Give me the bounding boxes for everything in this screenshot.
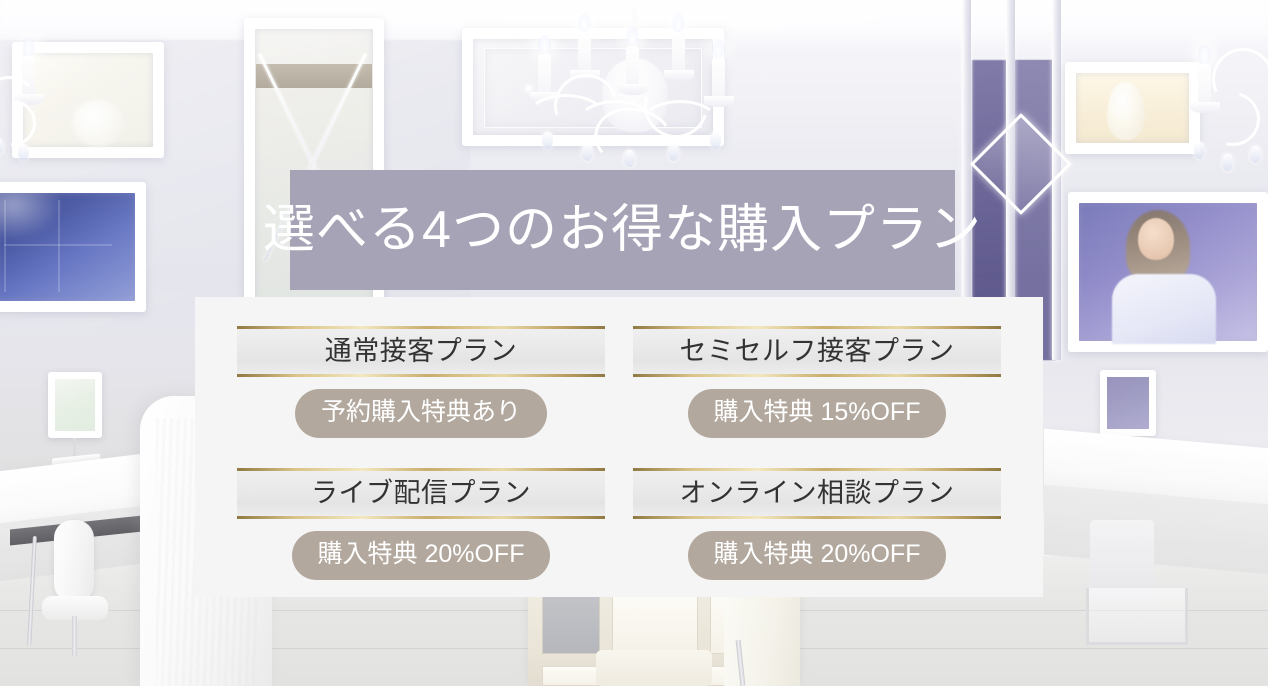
plan-benefit-row: 購入特典 20%OFF <box>237 531 605 580</box>
plan-card-online-consult[interactable]: オンライン相談プラン 購入特典 20%OFF <box>633 468 1001 580</box>
plan-header: ライブ配信プラン <box>237 468 605 519</box>
sconce-crystal <box>1250 146 1261 163</box>
plan-benefit-row: 予約購入特典あり <box>237 389 605 438</box>
sconce-crystal <box>18 144 29 161</box>
person-body <box>1112 274 1216 344</box>
chair-back <box>54 520 94 602</box>
plan-card-livestream[interactable]: ライブ配信プラン 購入特典 20%OFF <box>237 468 605 580</box>
tabletop-mirror-right <box>1100 370 1156 436</box>
chandelier-flame <box>672 12 685 32</box>
screen-divider <box>4 244 112 246</box>
laundry-rack <box>1086 588 1188 645</box>
person-head <box>1138 218 1174 260</box>
screenshot-root: 選べる4つのお得な購入プラン 通常接客プラン 予約購入特典あり セミセルフ接客プ… <box>0 0 1268 686</box>
chandelier-crystal <box>542 132 553 149</box>
salon-chair-left <box>40 520 112 630</box>
plan-benefit-badge: 購入特典 15%OFF <box>688 389 947 438</box>
shelf-cell <box>612 594 698 654</box>
chandelier-cup <box>704 96 734 107</box>
plan-benefit-badge: 予約購入特典あり <box>295 389 547 438</box>
plan-benefit-row: 購入特典 15%OFF <box>633 389 1001 438</box>
plan-grid: 通常接客プラン 予約購入特典あり セミセルフ接客プラン 購入特典 15%OFF … <box>237 326 1001 580</box>
tabletop-mirror-left <box>48 372 102 438</box>
chandelier-crystal <box>582 144 593 161</box>
plan-title: ライブ配信プラン <box>311 480 531 507</box>
plan-panel: 通常接客プラン 予約購入特典あり セミセルフ接客プラン 購入特典 15%OFF … <box>195 297 1043 597</box>
sconce-flame <box>1198 44 1211 64</box>
chandelier-crystal <box>668 144 679 161</box>
chair-stem <box>72 616 77 656</box>
chandelier-crystal <box>624 150 635 167</box>
page-title: 選べる4つのお得な購入プラン <box>263 204 982 256</box>
screen-glare <box>0 190 62 240</box>
vase <box>1107 82 1145 140</box>
chandelier-cup <box>618 84 648 95</box>
plan-title: 通常接客プラン <box>325 338 518 365</box>
plan-header: オンライン相談プラン <box>633 468 1001 519</box>
chandelier-candle <box>578 32 591 74</box>
plan-card-semiself[interactable]: セミセルフ接客プラン 購入特典 15%OFF <box>633 326 1001 438</box>
sconce-flame <box>22 36 35 56</box>
plan-benefit-badge: 購入特典 20%OFF <box>292 531 551 580</box>
chandelier-flame <box>626 26 639 46</box>
plan-header: セミセルフ接客プラン <box>633 326 1001 377</box>
display-monitor-left <box>0 182 146 312</box>
stool-cushion <box>596 650 712 686</box>
plan-card-normal[interactable]: 通常接客プラン 予約購入特典あり <box>237 326 605 438</box>
plan-benefit-row: 購入特典 20%OFF <box>633 531 1001 580</box>
plan-title: セミセルフ接客プラン <box>680 338 955 365</box>
sconce-candle <box>1198 64 1211 106</box>
title-banner: 選べる4つのお得な購入プラン <box>290 170 955 290</box>
chandelier-crystal <box>710 132 721 149</box>
chandelier-candle <box>538 54 551 96</box>
chandelier-candle <box>672 32 685 74</box>
display-monitor-right <box>1068 192 1268 352</box>
shelf-cell <box>542 594 600 654</box>
sconce-crystal <box>1222 154 1233 171</box>
chandelier-flame <box>712 38 725 58</box>
wall-sconce-right <box>1188 30 1268 200</box>
chandelier-flame <box>538 34 551 54</box>
chandelier-candle <box>626 46 639 88</box>
crystal-chandelier <box>520 0 750 180</box>
plan-title: オンライン相談プラン <box>680 480 955 507</box>
sconce-crystal <box>1194 142 1205 159</box>
plan-header: 通常接客プラン <box>237 326 605 377</box>
chandelier-candle <box>712 58 725 100</box>
display-niche <box>1065 62 1200 154</box>
plan-benefit-badge: 購入特典 20%OFF <box>688 531 947 580</box>
wall-sconce-left <box>0 26 104 176</box>
chandelier-flame <box>578 12 591 32</box>
